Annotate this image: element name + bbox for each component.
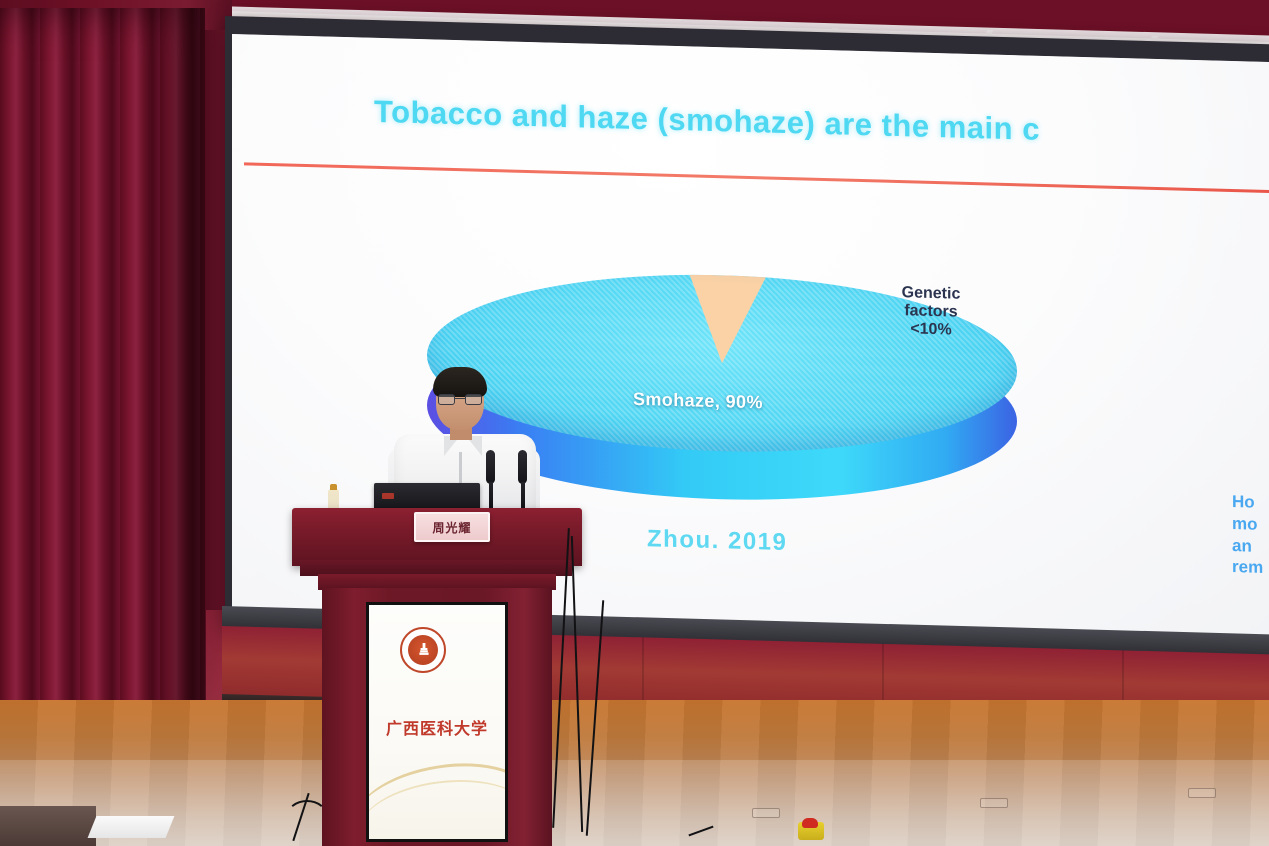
wall-panel-seam	[642, 637, 644, 709]
glasses-lens-left	[438, 394, 455, 405]
floor-access-plate	[1188, 788, 1216, 798]
podium-org-name: 广西医科大学	[369, 715, 505, 739]
conference-hall-scene: Tobacco and haze (smohaze) are the main …	[0, 0, 1269, 846]
floor-access-plate	[980, 798, 1008, 808]
nameplate: 周光耀	[414, 512, 490, 542]
crest-emblem-icon	[419, 643, 429, 661]
laptop-computer[interactable]	[374, 483, 480, 511]
slide-right-line-2: mo	[1232, 513, 1263, 536]
slide-right-line-1: Ho	[1232, 491, 1263, 514]
laptop-logo	[382, 493, 394, 499]
microphone-head	[486, 450, 495, 484]
slide-title: Tobacco and haze (smohaze) are the main …	[374, 94, 1040, 148]
floor-paper	[88, 816, 175, 838]
slide-right-line-4: rem	[1232, 556, 1263, 579]
pie-label-genetic-line-3: <10%	[863, 319, 999, 341]
water-bottle-cap	[330, 484, 337, 490]
slide-divider-line	[244, 162, 1269, 193]
speaker-hair	[433, 367, 487, 397]
slide-right-line-3: an	[1232, 535, 1263, 558]
glasses-icon	[438, 394, 482, 405]
pie-label-smohaze: Smohaze, 90%	[633, 389, 763, 414]
cable-loop	[286, 800, 328, 834]
nameplate-text: 周光耀	[432, 519, 471, 536]
floor-object-dark	[0, 806, 96, 846]
glasses-lens-right	[465, 394, 482, 405]
emergency-stop-cap[interactable]	[802, 818, 818, 828]
stage-curtain	[0, 8, 205, 808]
stage-floor	[0, 700, 1269, 846]
glasses-bridge	[455, 398, 465, 399]
podium-display: 广西医科大学	[369, 605, 505, 839]
floor-access-plate	[752, 808, 780, 818]
slide-right-column: Ho mo an rem	[1232, 491, 1263, 579]
microphone-head	[518, 450, 527, 484]
pie-label-genetic: Genetic factors <10%	[863, 283, 999, 340]
university-crest-icon	[400, 627, 446, 673]
slide-citation: Zhou. 2019	[647, 525, 787, 557]
